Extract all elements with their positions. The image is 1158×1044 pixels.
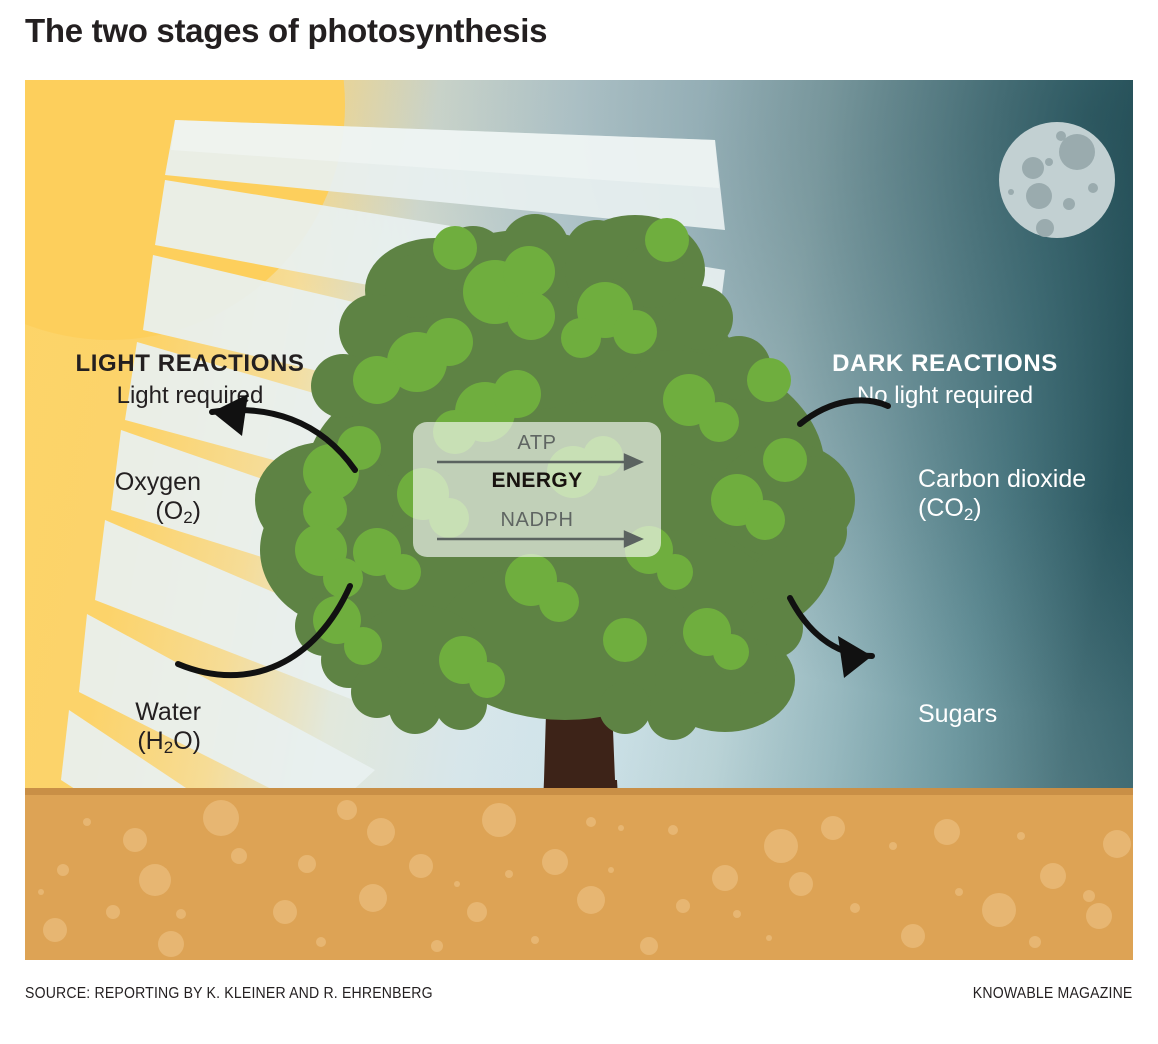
infographic-page: The two stages of photosynthesis [0, 0, 1158, 1044]
energy-arrows-icon [413, 422, 661, 557]
carbon-dioxide-label: Carbon dioxide (CO2) [918, 465, 1086, 525]
light-reactions-heading: LIGHT REACTIONS [65, 350, 315, 378]
water-label: Water (H2O) [89, 698, 201, 758]
footer-brand: KNOWABLE MAGAZINE [973, 985, 1133, 1003]
soil-ground [25, 788, 1133, 960]
sugars-label: Sugars [918, 700, 997, 729]
co2-formula-post: ) [973, 494, 981, 522]
illustration-panel: ATP ENERGY NADPH LIGHT REACTIONS Light r… [25, 80, 1133, 960]
oxygen-name: Oxygen [115, 468, 201, 496]
energy-box: ATP ENERGY NADPH [413, 422, 661, 557]
oxygen-label: Oxygen (O2) [71, 468, 201, 528]
footer-source: SOURCE: REPORTING BY K. KLEINER AND R. E… [25, 985, 433, 1003]
dark-reactions-subheading: No light required [815, 382, 1075, 410]
footer: SOURCE: REPORTING BY K. KLEINER AND R. E… [25, 985, 1133, 1015]
page-title: The two stages of photosynthesis [25, 12, 547, 50]
co2-formula-sub: 2 [964, 505, 973, 524]
sugars-name: Sugars [918, 700, 997, 728]
soil-speckles-icon [25, 788, 1133, 960]
co2-formula-pre: (CO [918, 494, 964, 522]
water-formula-post: O) [173, 727, 201, 755]
dark-reactions-heading: DARK REACTIONS [815, 350, 1075, 378]
co2-name: Carbon dioxide [918, 465, 1086, 493]
oxygen-formula-pre: (O [155, 497, 183, 525]
water-formula-sub: 2 [164, 738, 173, 757]
oxygen-formula-sub: 2 [183, 508, 192, 527]
oxygen-formula-post: ) [193, 497, 201, 525]
water-formula-pre: (H [137, 727, 163, 755]
light-reactions-subheading: Light required [65, 382, 315, 410]
water-name: Water [135, 698, 201, 726]
